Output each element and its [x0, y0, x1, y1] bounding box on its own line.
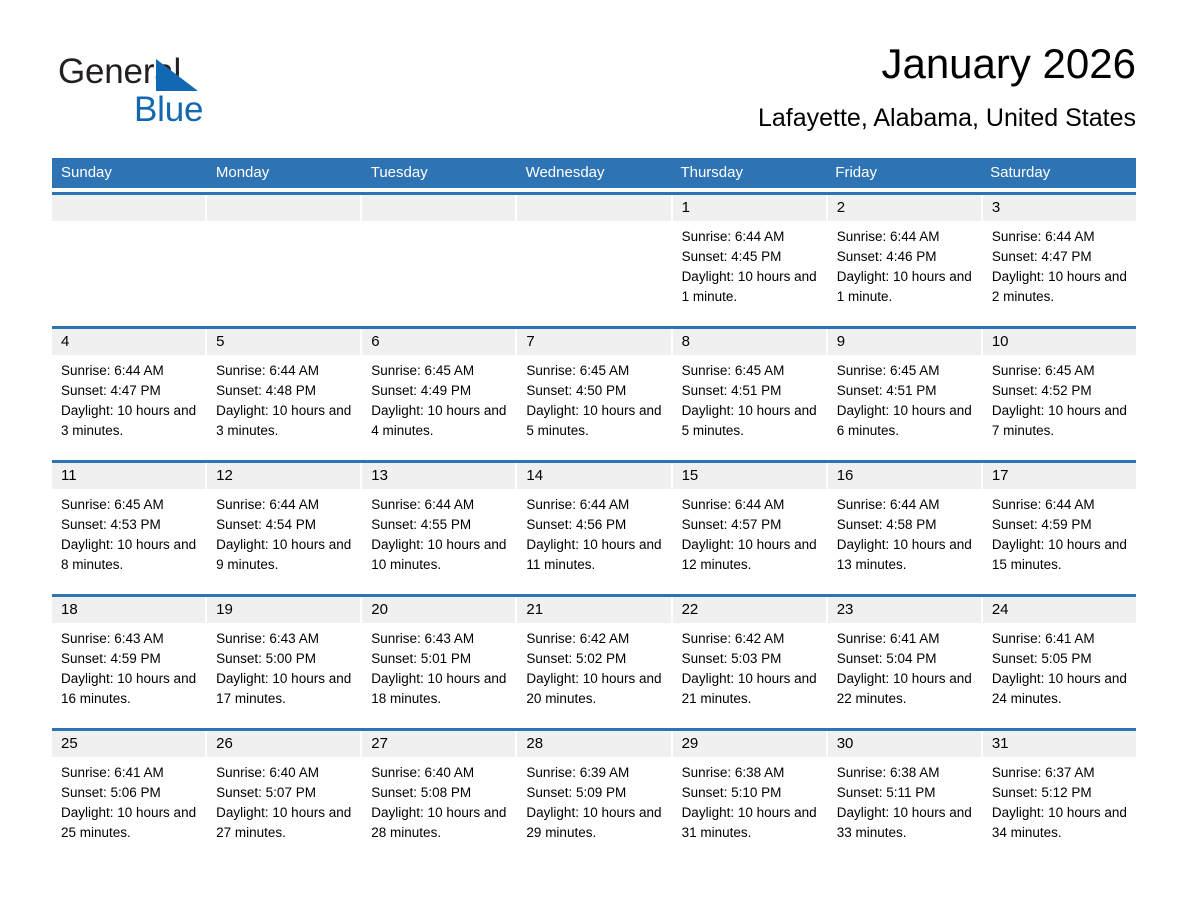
sunrise-text: Sunrise: 6:44 AM [992, 495, 1127, 515]
day-number-band: 3 [983, 195, 1136, 221]
sunrise-text: Sunrise: 6:39 AM [526, 763, 661, 783]
weekday-header-thursday: Thursday [671, 158, 826, 188]
week-row: 11 Sunrise: 6:45 AM Sunset: 4:53 PM Dayl… [52, 460, 1136, 590]
day-info: Sunrise: 6:44 AM Sunset: 4:47 PM Dayligh… [52, 355, 205, 441]
sunset-text: Sunset: 5:03 PM [682, 649, 817, 669]
day-info: Sunrise: 6:38 AM Sunset: 5:10 PM Dayligh… [673, 757, 826, 843]
daylight-text: Daylight: 10 hours and 29 minutes. [526, 803, 661, 843]
sunrise-text: Sunrise: 6:44 AM [837, 495, 972, 515]
day-cell[interactable]: 11 Sunrise: 6:45 AM Sunset: 4:53 PM Dayl… [52, 463, 207, 590]
day-cell[interactable] [207, 195, 362, 322]
day-number-band: 17 [983, 463, 1136, 489]
day-info: Sunrise: 6:44 AM Sunset: 4:54 PM Dayligh… [207, 489, 360, 575]
daylight-text: Daylight: 10 hours and 3 minutes. [61, 401, 196, 441]
day-number: 18 [61, 601, 78, 618]
sunset-text: Sunset: 4:51 PM [682, 381, 817, 401]
sunrise-text: Sunrise: 6:44 AM [371, 495, 506, 515]
page-header: General Blue January 2026 Lafayette, Ala… [52, 38, 1136, 148]
sunrise-text: Sunrise: 6:44 AM [61, 361, 196, 381]
day-info: Sunrise: 6:37 AM Sunset: 5:12 PM Dayligh… [983, 757, 1136, 843]
daylight-text: Daylight: 10 hours and 2 minutes. [992, 267, 1127, 307]
sunset-text: Sunset: 4:53 PM [61, 515, 196, 535]
day-cell[interactable]: 30 Sunrise: 6:38 AM Sunset: 5:11 PM Dayl… [828, 731, 983, 858]
day-number: 9 [837, 333, 845, 350]
day-number: 3 [992, 199, 1000, 216]
day-info: Sunrise: 6:45 AM Sunset: 4:52 PM Dayligh… [983, 355, 1136, 441]
day-cell[interactable]: 3 Sunrise: 6:44 AM Sunset: 4:47 PM Dayli… [983, 195, 1136, 322]
daylight-text: Daylight: 10 hours and 9 minutes. [216, 535, 351, 575]
day-number-band: 4 [52, 329, 205, 355]
daylight-text: Daylight: 10 hours and 17 minutes. [216, 669, 351, 709]
daylight-text: Daylight: 10 hours and 8 minutes. [61, 535, 196, 575]
day-info: Sunrise: 6:38 AM Sunset: 5:11 PM Dayligh… [828, 757, 981, 843]
weekday-header-row: Sunday Monday Tuesday Wednesday Thursday… [52, 158, 1136, 188]
weekday-header-saturday: Saturday [981, 158, 1136, 188]
sunset-text: Sunset: 5:07 PM [216, 783, 351, 803]
sunrise-text: Sunrise: 6:41 AM [837, 629, 972, 649]
daylight-text: Daylight: 10 hours and 24 minutes. [992, 669, 1127, 709]
day-number: 21 [526, 601, 543, 618]
general-blue-logo[interactable]: General Blue [58, 52, 258, 132]
day-number-band: 15 [673, 463, 826, 489]
sunset-text: Sunset: 4:59 PM [61, 649, 196, 669]
calendar-grid: Sunday Monday Tuesday Wednesday Thursday… [52, 158, 1136, 858]
day-cell[interactable]: 31 Sunrise: 6:37 AM Sunset: 5:12 PM Dayl… [983, 731, 1136, 858]
day-number: 26 [216, 735, 233, 752]
day-number-band: 23 [828, 597, 981, 623]
day-number: 25 [61, 735, 78, 752]
sunrise-text: Sunrise: 6:40 AM [216, 763, 351, 783]
day-info: Sunrise: 6:45 AM Sunset: 4:51 PM Dayligh… [673, 355, 826, 441]
daylight-text: Daylight: 10 hours and 4 minutes. [371, 401, 506, 441]
daylight-text: Daylight: 10 hours and 5 minutes. [526, 401, 661, 441]
week-row: 18 Sunrise: 6:43 AM Sunset: 4:59 PM Dayl… [52, 594, 1136, 724]
day-info: Sunrise: 6:43 AM Sunset: 5:01 PM Dayligh… [362, 623, 515, 709]
daylight-text: Daylight: 10 hours and 3 minutes. [216, 401, 351, 441]
weekday-header-sunday: Sunday [52, 158, 207, 188]
daylight-text: Daylight: 10 hours and 5 minutes. [682, 401, 817, 441]
day-info: Sunrise: 6:42 AM Sunset: 5:03 PM Dayligh… [673, 623, 826, 709]
day-number-band: 11 [52, 463, 205, 489]
daylight-text: Daylight: 10 hours and 20 minutes. [526, 669, 661, 709]
daylight-text: Daylight: 10 hours and 31 minutes. [682, 803, 817, 843]
day-number: 16 [837, 467, 854, 484]
day-info: Sunrise: 6:43 AM Sunset: 4:59 PM Dayligh… [52, 623, 205, 709]
daylight-text: Daylight: 10 hours and 11 minutes. [526, 535, 661, 575]
day-number: 7 [526, 333, 534, 350]
day-cell[interactable]: 15 Sunrise: 6:44 AM Sunset: 4:57 PM Dayl… [673, 463, 828, 590]
sunset-text: Sunset: 4:48 PM [216, 381, 351, 401]
sunrise-text: Sunrise: 6:38 AM [837, 763, 972, 783]
day-number: 12 [216, 467, 233, 484]
day-number: 31 [992, 735, 1009, 752]
week-row: 4 Sunrise: 6:44 AM Sunset: 4:47 PM Dayli… [52, 326, 1136, 456]
sunrise-text: Sunrise: 6:44 AM [526, 495, 661, 515]
day-number-band: 24 [983, 597, 1136, 623]
day-number-band [517, 195, 670, 221]
day-number-band: 2 [828, 195, 981, 221]
day-info: Sunrise: 6:45 AM Sunset: 4:49 PM Dayligh… [362, 355, 515, 441]
day-cell[interactable]: 2 Sunrise: 6:44 AM Sunset: 4:46 PM Dayli… [828, 195, 983, 322]
sunset-text: Sunset: 4:55 PM [371, 515, 506, 535]
day-number-band: 21 [517, 597, 670, 623]
day-cell[interactable]: 7 Sunrise: 6:45 AM Sunset: 4:50 PM Dayli… [517, 329, 672, 456]
day-cell[interactable] [52, 195, 207, 322]
day-number: 30 [837, 735, 854, 752]
day-cell[interactable]: 19 Sunrise: 6:43 AM Sunset: 5:00 PM Dayl… [207, 597, 362, 724]
page-title: January 2026 [758, 38, 1136, 90]
day-info: Sunrise: 6:40 AM Sunset: 5:08 PM Dayligh… [362, 757, 515, 843]
day-cell[interactable]: 20 Sunrise: 6:43 AM Sunset: 5:01 PM Dayl… [362, 597, 517, 724]
day-cell[interactable]: 26 Sunrise: 6:40 AM Sunset: 5:07 PM Dayl… [207, 731, 362, 858]
sunset-text: Sunset: 4:51 PM [837, 381, 972, 401]
daylight-text: Daylight: 10 hours and 27 minutes. [216, 803, 351, 843]
day-number-band: 10 [983, 329, 1136, 355]
sunrise-text: Sunrise: 6:43 AM [61, 629, 196, 649]
sunset-text: Sunset: 4:56 PM [526, 515, 661, 535]
weekday-header-tuesday: Tuesday [362, 158, 517, 188]
sunset-text: Sunset: 4:47 PM [61, 381, 196, 401]
day-info: Sunrise: 6:44 AM Sunset: 4:46 PM Dayligh… [828, 221, 981, 307]
daylight-text: Daylight: 10 hours and 12 minutes. [682, 535, 817, 575]
sunset-text: Sunset: 5:04 PM [837, 649, 972, 669]
sunrise-text: Sunrise: 6:41 AM [61, 763, 196, 783]
sunrise-text: Sunrise: 6:42 AM [682, 629, 817, 649]
sunset-text: Sunset: 5:10 PM [682, 783, 817, 803]
day-number-band [207, 195, 360, 221]
day-number-band [362, 195, 515, 221]
day-cell[interactable]: 5 Sunrise: 6:44 AM Sunset: 4:48 PM Dayli… [207, 329, 362, 456]
day-info: Sunrise: 6:44 AM Sunset: 4:55 PM Dayligh… [362, 489, 515, 575]
day-info: Sunrise: 6:43 AM Sunset: 5:00 PM Dayligh… [207, 623, 360, 709]
daylight-text: Daylight: 10 hours and 15 minutes. [992, 535, 1127, 575]
daylight-text: Daylight: 10 hours and 7 minutes. [992, 401, 1127, 441]
daylight-text: Daylight: 10 hours and 22 minutes. [837, 669, 972, 709]
sunset-text: Sunset: 5:11 PM [837, 783, 972, 803]
day-number: 17 [992, 467, 1009, 484]
day-info: Sunrise: 6:40 AM Sunset: 5:07 PM Dayligh… [207, 757, 360, 843]
day-cell[interactable]: 8 Sunrise: 6:45 AM Sunset: 4:51 PM Dayli… [673, 329, 828, 456]
day-number-band: 26 [207, 731, 360, 757]
day-number-band: 6 [362, 329, 515, 355]
day-number: 15 [682, 467, 699, 484]
day-number-band: 22 [673, 597, 826, 623]
day-number: 10 [992, 333, 1009, 350]
day-number: 19 [216, 601, 233, 618]
day-info: Sunrise: 6:44 AM Sunset: 4:47 PM Dayligh… [983, 221, 1136, 307]
sunset-text: Sunset: 4:59 PM [992, 515, 1127, 535]
sunrise-text: Sunrise: 6:42 AM [526, 629, 661, 649]
day-cell[interactable]: 21 Sunrise: 6:42 AM Sunset: 5:02 PM Dayl… [517, 597, 672, 724]
sunset-text: Sunset: 4:45 PM [682, 247, 817, 267]
day-number-band: 31 [983, 731, 1136, 757]
day-cell[interactable]: 18 Sunrise: 6:43 AM Sunset: 4:59 PM Dayl… [52, 597, 207, 724]
sunset-text: Sunset: 4:58 PM [837, 515, 972, 535]
sunrise-text: Sunrise: 6:44 AM [837, 227, 972, 247]
day-cell[interactable] [362, 195, 517, 322]
sunset-text: Sunset: 5:02 PM [526, 649, 661, 669]
day-number: 27 [371, 735, 388, 752]
day-number: 6 [371, 333, 379, 350]
day-info: Sunrise: 6:41 AM Sunset: 5:06 PM Dayligh… [52, 757, 205, 843]
sunrise-text: Sunrise: 6:43 AM [216, 629, 351, 649]
day-info: Sunrise: 6:44 AM Sunset: 4:48 PM Dayligh… [207, 355, 360, 441]
day-cell[interactable]: 9 Sunrise: 6:45 AM Sunset: 4:51 PM Dayli… [828, 329, 983, 456]
day-number: 13 [371, 467, 388, 484]
day-number: 11 [61, 467, 77, 484]
day-number-band: 25 [52, 731, 205, 757]
day-number: 2 [837, 199, 845, 216]
day-cell[interactable]: 1 Sunrise: 6:44 AM Sunset: 4:45 PM Dayli… [673, 195, 828, 322]
sunset-text: Sunset: 5:05 PM [992, 649, 1127, 669]
sunset-text: Sunset: 5:01 PM [371, 649, 506, 669]
day-info: Sunrise: 6:44 AM Sunset: 4:45 PM Dayligh… [673, 221, 826, 307]
day-info: Sunrise: 6:42 AM Sunset: 5:02 PM Dayligh… [517, 623, 670, 709]
day-number: 5 [216, 333, 224, 350]
sunrise-text: Sunrise: 6:41 AM [992, 629, 1127, 649]
daylight-text: Daylight: 10 hours and 33 minutes. [837, 803, 972, 843]
sunset-text: Sunset: 4:50 PM [526, 381, 661, 401]
day-number-band: 28 [517, 731, 670, 757]
day-number-band: 12 [207, 463, 360, 489]
sunrise-text: Sunrise: 6:44 AM [682, 227, 817, 247]
day-number-band: 8 [673, 329, 826, 355]
sunrise-text: Sunrise: 6:44 AM [216, 495, 351, 515]
day-number-band: 20 [362, 597, 515, 623]
day-info: Sunrise: 6:44 AM Sunset: 4:57 PM Dayligh… [673, 489, 826, 575]
sunset-text: Sunset: 4:47 PM [992, 247, 1127, 267]
day-cell[interactable]: 13 Sunrise: 6:44 AM Sunset: 4:55 PM Dayl… [362, 463, 517, 590]
day-number: 24 [992, 601, 1009, 618]
sunrise-text: Sunrise: 6:45 AM [526, 361, 661, 381]
sunrise-text: Sunrise: 6:43 AM [371, 629, 506, 649]
day-number-band [52, 195, 205, 221]
weekday-header-wednesday: Wednesday [517, 158, 672, 188]
day-number-band: 14 [517, 463, 670, 489]
day-info: Sunrise: 6:45 AM Sunset: 4:50 PM Dayligh… [517, 355, 670, 441]
day-info: Sunrise: 6:41 AM Sunset: 5:04 PM Dayligh… [828, 623, 981, 709]
sunset-text: Sunset: 5:09 PM [526, 783, 661, 803]
day-info: Sunrise: 6:44 AM Sunset: 4:59 PM Dayligh… [983, 489, 1136, 575]
day-info: Sunrise: 6:45 AM Sunset: 4:51 PM Dayligh… [828, 355, 981, 441]
daylight-text: Daylight: 10 hours and 13 minutes. [837, 535, 972, 575]
sunrise-text: Sunrise: 6:44 AM [992, 227, 1127, 247]
week-row: 1 Sunrise: 6:44 AM Sunset: 4:45 PM Dayli… [52, 192, 1136, 322]
weekday-header-monday: Monday [207, 158, 362, 188]
day-cell[interactable]: 17 Sunrise: 6:44 AM Sunset: 4:59 PM Dayl… [983, 463, 1136, 590]
day-cell[interactable]: 24 Sunrise: 6:41 AM Sunset: 5:05 PM Dayl… [983, 597, 1136, 724]
day-number-band: 19 [207, 597, 360, 623]
daylight-text: Daylight: 10 hours and 1 minute. [837, 267, 972, 307]
day-number: 23 [837, 601, 854, 618]
daylight-text: Daylight: 10 hours and 34 minutes. [992, 803, 1127, 843]
sunrise-text: Sunrise: 6:45 AM [371, 361, 506, 381]
sunset-text: Sunset: 4:54 PM [216, 515, 351, 535]
day-number: 1 [682, 199, 690, 216]
day-cell[interactable]: 27 Sunrise: 6:40 AM Sunset: 5:08 PM Dayl… [362, 731, 517, 858]
sunrise-text: Sunrise: 6:40 AM [371, 763, 506, 783]
day-number: 14 [526, 467, 543, 484]
calendar-page: General Blue January 2026 Lafayette, Ala… [0, 0, 1188, 918]
sunset-text: Sunset: 5:12 PM [992, 783, 1127, 803]
day-cell[interactable]: 25 Sunrise: 6:41 AM Sunset: 5:06 PM Dayl… [52, 731, 207, 858]
sunrise-text: Sunrise: 6:45 AM [682, 361, 817, 381]
sunset-text: Sunset: 4:46 PM [837, 247, 972, 267]
day-number: 22 [682, 601, 699, 618]
day-info: Sunrise: 6:39 AM Sunset: 5:09 PM Dayligh… [517, 757, 670, 843]
day-number-band: 30 [828, 731, 981, 757]
day-cell[interactable]: 29 Sunrise: 6:38 AM Sunset: 5:10 PM Dayl… [673, 731, 828, 858]
day-info: Sunrise: 6:45 AM Sunset: 4:53 PM Dayligh… [52, 489, 205, 575]
location-subtitle: Lafayette, Alabama, United States [758, 102, 1136, 134]
day-number-band: 29 [673, 731, 826, 757]
day-cell[interactable]: 22 Sunrise: 6:42 AM Sunset: 5:03 PM Dayl… [673, 597, 828, 724]
day-number: 29 [682, 735, 699, 752]
day-info: Sunrise: 6:41 AM Sunset: 5:05 PM Dayligh… [983, 623, 1136, 709]
day-number-band: 9 [828, 329, 981, 355]
sunset-text: Sunset: 4:52 PM [992, 381, 1127, 401]
sunset-text: Sunset: 5:00 PM [216, 649, 351, 669]
sunset-text: Sunset: 5:06 PM [61, 783, 196, 803]
daylight-text: Daylight: 10 hours and 21 minutes. [682, 669, 817, 709]
sunrise-text: Sunrise: 6:45 AM [992, 361, 1127, 381]
day-number-band: 18 [52, 597, 205, 623]
daylight-text: Daylight: 10 hours and 6 minutes. [837, 401, 972, 441]
day-number-band: 16 [828, 463, 981, 489]
day-number-band: 13 [362, 463, 515, 489]
day-number: 28 [526, 735, 543, 752]
sunrise-text: Sunrise: 6:44 AM [682, 495, 817, 515]
day-number-band: 5 [207, 329, 360, 355]
sunset-text: Sunset: 5:08 PM [371, 783, 506, 803]
sunrise-text: Sunrise: 6:37 AM [992, 763, 1127, 783]
sunrise-text: Sunrise: 6:44 AM [216, 361, 351, 381]
daylight-text: Daylight: 10 hours and 28 minutes. [371, 803, 506, 843]
day-cell[interactable]: 14 Sunrise: 6:44 AM Sunset: 4:56 PM Dayl… [517, 463, 672, 590]
daylight-text: Daylight: 10 hours and 16 minutes. [61, 669, 196, 709]
day-number: 4 [61, 333, 69, 350]
daylight-text: Daylight: 10 hours and 25 minutes. [61, 803, 196, 843]
triangle-icon [156, 59, 198, 91]
day-number-band: 27 [362, 731, 515, 757]
sunrise-text: Sunrise: 6:38 AM [682, 763, 817, 783]
day-cell[interactable]: 23 Sunrise: 6:41 AM Sunset: 5:04 PM Dayl… [828, 597, 983, 724]
week-row: 25 Sunrise: 6:41 AM Sunset: 5:06 PM Dayl… [52, 728, 1136, 858]
weekday-header-friday: Friday [826, 158, 981, 188]
sunrise-text: Sunrise: 6:45 AM [61, 495, 196, 515]
daylight-text: Daylight: 10 hours and 10 minutes. [371, 535, 506, 575]
day-cell[interactable]: 4 Sunrise: 6:44 AM Sunset: 4:47 PM Dayli… [52, 329, 207, 456]
day-cell[interactable]: 6 Sunrise: 6:45 AM Sunset: 4:49 PM Dayli… [362, 329, 517, 456]
day-number-band: 1 [673, 195, 826, 221]
day-info: Sunrise: 6:44 AM Sunset: 4:56 PM Dayligh… [517, 489, 670, 575]
day-cell[interactable]: 16 Sunrise: 6:44 AM Sunset: 4:58 PM Dayl… [828, 463, 983, 590]
day-cell[interactable]: 10 Sunrise: 6:45 AM Sunset: 4:52 PM Dayl… [983, 329, 1136, 456]
logo-word-blue: Blue [134, 90, 203, 130]
day-info: Sunrise: 6:44 AM Sunset: 4:58 PM Dayligh… [828, 489, 981, 575]
sunset-text: Sunset: 4:57 PM [682, 515, 817, 535]
daylight-text: Daylight: 10 hours and 1 minute. [682, 267, 817, 307]
sunset-text: Sunset: 4:49 PM [371, 381, 506, 401]
sunrise-text: Sunrise: 6:45 AM [837, 361, 972, 381]
day-number-band: 7 [517, 329, 670, 355]
day-number: 8 [682, 333, 690, 350]
day-cell[interactable]: 28 Sunrise: 6:39 AM Sunset: 5:09 PM Dayl… [517, 731, 672, 858]
day-cell[interactable] [517, 195, 672, 322]
day-number: 20 [371, 601, 388, 618]
title-block: January 2026 Lafayette, Alabama, United … [758, 38, 1136, 134]
daylight-text: Daylight: 10 hours and 18 minutes. [371, 669, 506, 709]
day-cell[interactable]: 12 Sunrise: 6:44 AM Sunset: 4:54 PM Dayl… [207, 463, 362, 590]
